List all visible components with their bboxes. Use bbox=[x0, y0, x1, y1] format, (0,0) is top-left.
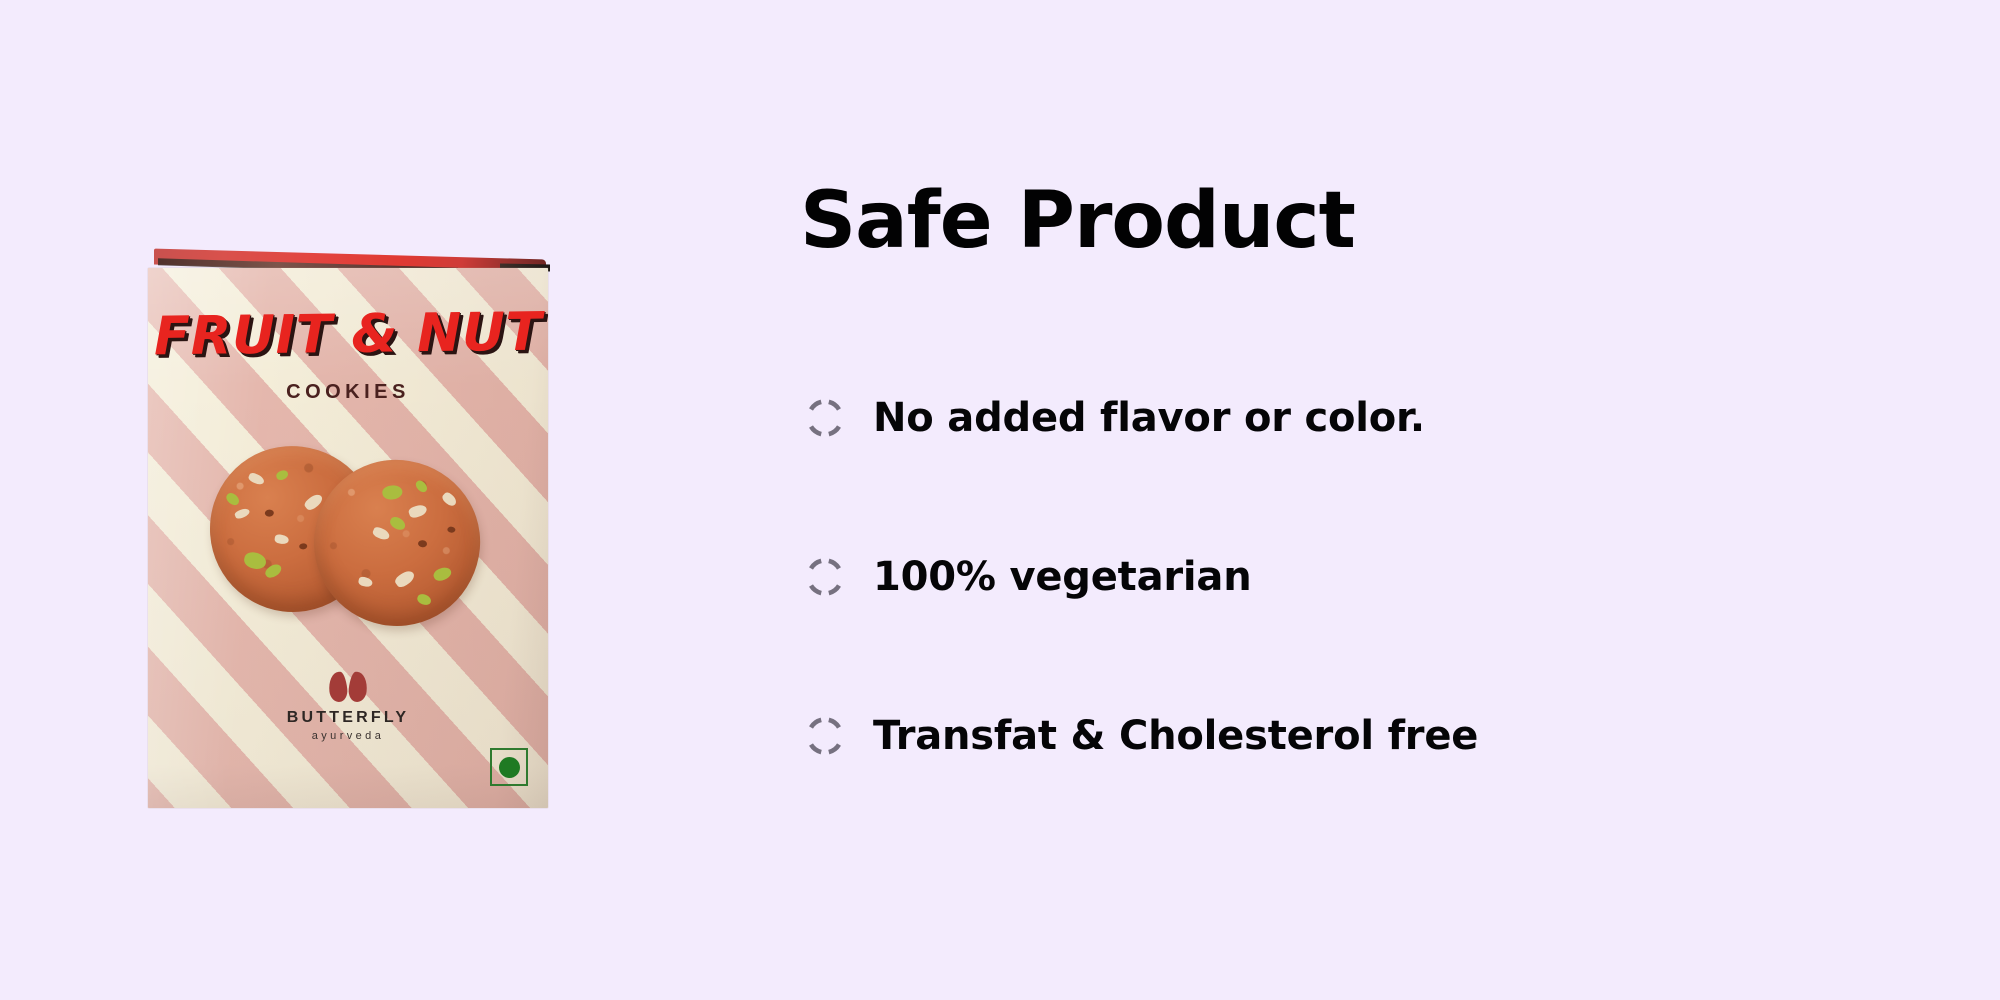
list-item: No added flavor or color. bbox=[804, 388, 1804, 448]
dashed-circle-icon bbox=[804, 397, 846, 439]
dashed-circle-icon bbox=[804, 715, 846, 757]
list-item-label: 100% vegetarian bbox=[873, 557, 1252, 597]
cookies-photo bbox=[210, 438, 490, 638]
butterfly-icon bbox=[328, 672, 368, 702]
page-title: Safe Product bbox=[800, 182, 1355, 260]
butterfly-wing-left bbox=[327, 671, 348, 703]
list-item-label: Transfat & Cholesterol free bbox=[873, 716, 1478, 756]
box-product-subtitle: COOKIES bbox=[148, 381, 548, 404]
box-front-face: FRUIT & NUT COOKIES bbox=[148, 268, 548, 808]
box-product-title: FRUIT & NUT bbox=[148, 302, 548, 368]
feature-list: No added flavor or color. 100% vegetaria… bbox=[804, 388, 1804, 766]
brand-lockup: BUTTERFLY ayurveda bbox=[148, 672, 548, 742]
vegetarian-mark-icon bbox=[490, 748, 528, 786]
brand-tagline: ayurveda bbox=[148, 730, 548, 742]
promo-banner: FRUIT & NUT COOKIES bbox=[0, 0, 2000, 1000]
list-item: 100% vegetarian bbox=[804, 547, 1804, 607]
brand-name: BUTTERFLY bbox=[148, 709, 548, 727]
dashed-circle-icon bbox=[804, 556, 846, 598]
product-image: FRUIT & NUT COOKIES bbox=[148, 250, 550, 810]
vegetarian-mark-dot bbox=[499, 757, 520, 778]
list-item: Transfat & Cholesterol free bbox=[804, 706, 1804, 766]
list-item-label: No added flavor or color. bbox=[873, 398, 1425, 438]
butterfly-wing-right bbox=[347, 671, 368, 703]
content-panel: Safe Product No added flavor or color. bbox=[800, 0, 1900, 1000]
